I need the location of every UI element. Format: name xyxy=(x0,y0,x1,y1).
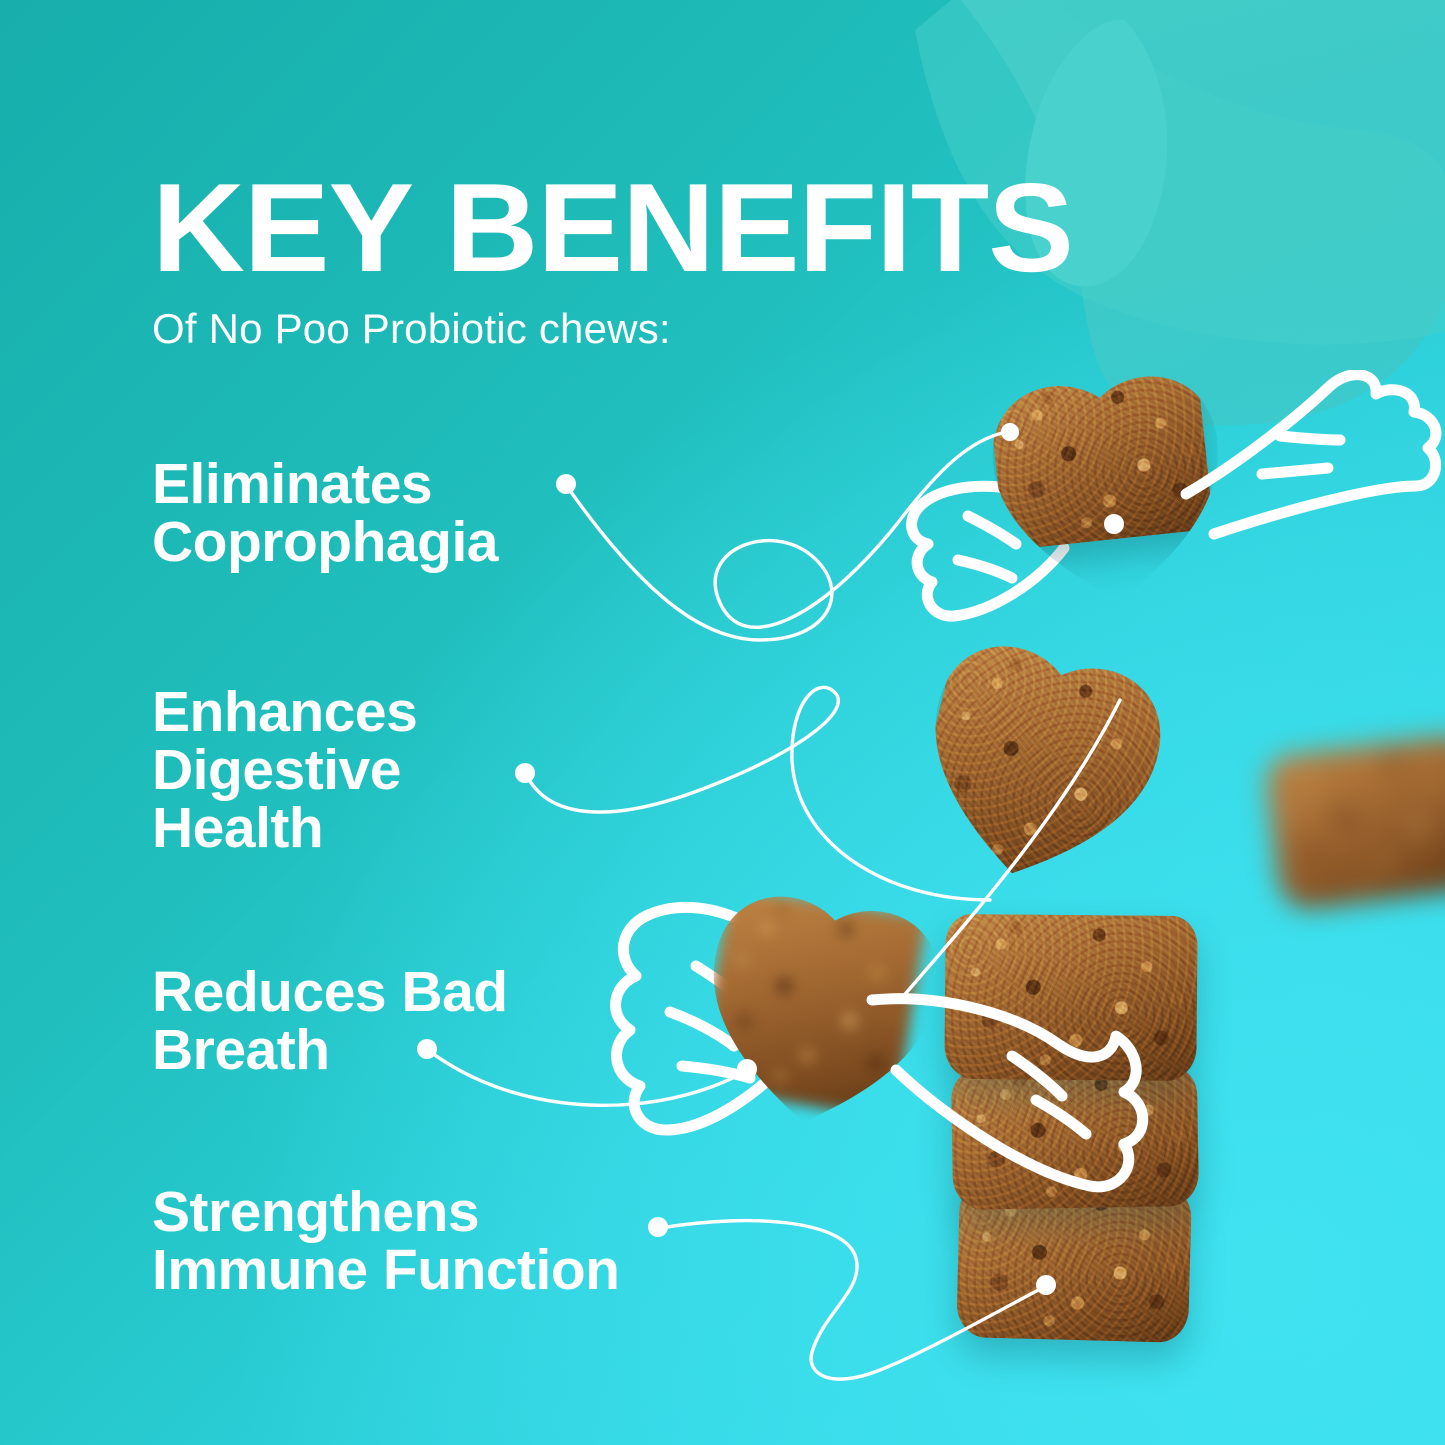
headline-block: KEY BENEFITS Of No Poo Probiotic chews: xyxy=(152,170,1272,352)
benefit-item-reduces-bad-breath: Reduces Bad Breath xyxy=(152,963,508,1079)
benefit-item-enhances-digestive-health: Enhances Digestive Health xyxy=(152,683,417,857)
stacked-chew-heart xyxy=(904,631,1178,909)
stacked-chew-second xyxy=(944,914,1197,1081)
stacked-chew-third xyxy=(951,1066,1199,1210)
page-subtitle: Of No Poo Probiotic chews: xyxy=(152,306,1272,352)
benefit-item-eliminates-coprophagia: Eliminates Coprophagia xyxy=(152,455,498,571)
page-title: KEY BENEFITS xyxy=(152,170,1294,286)
benefit-item-strengthens-immune-function: Strengthens Immune Function xyxy=(152,1183,619,1299)
key-benefits-poster: KEY BENEFITS Of No Poo Probiotic chews: xyxy=(0,0,1445,1445)
winged-chew-left xyxy=(697,886,927,1120)
angel-wing-icon-top-right xyxy=(1180,370,1445,560)
winged-chew-top xyxy=(988,369,1214,550)
background-chew-blurred xyxy=(1263,733,1445,912)
